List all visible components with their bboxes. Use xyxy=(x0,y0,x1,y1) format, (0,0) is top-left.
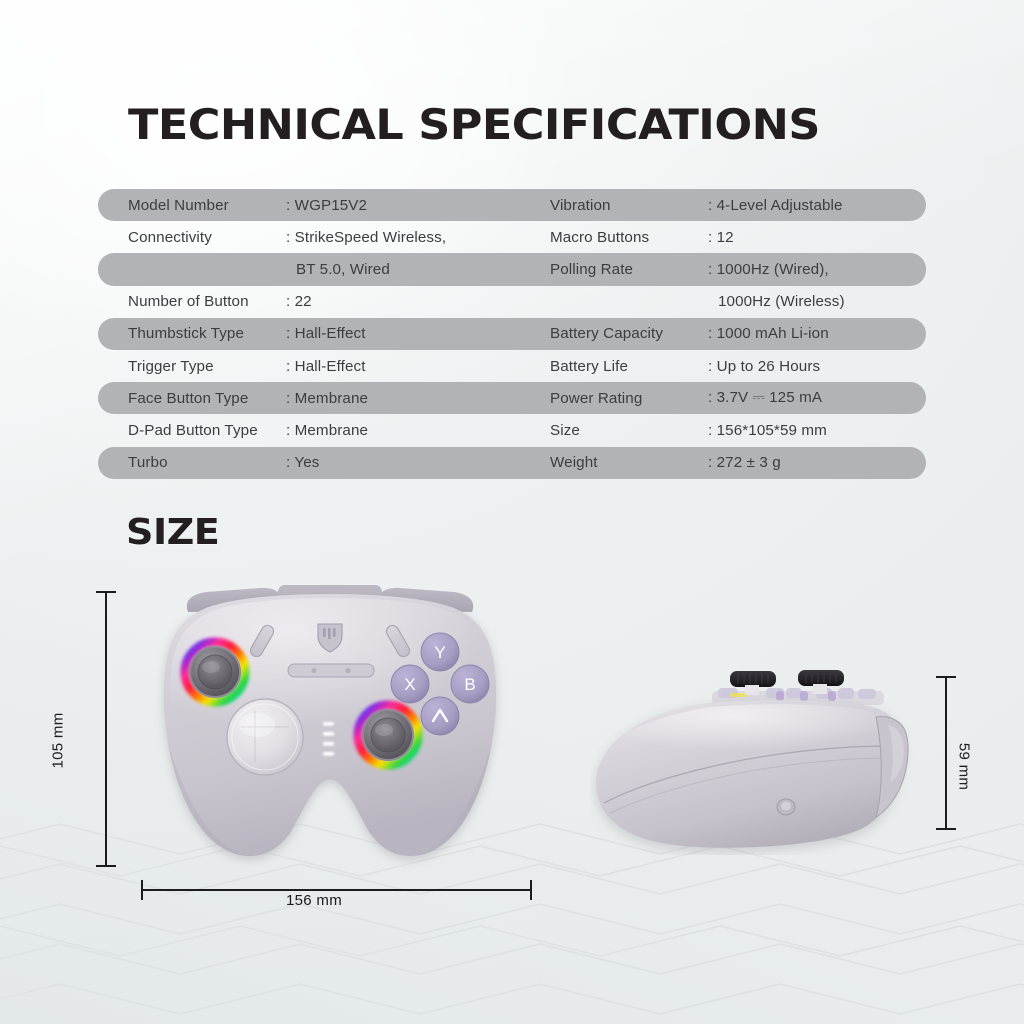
spec-label: Size xyxy=(550,422,708,439)
table-cell-left: Face Button Type : Membrane xyxy=(98,382,550,414)
spec-value: : Hall-Effect xyxy=(286,325,366,342)
page-title: TECHNICAL SPECIFICATIONS xyxy=(128,100,820,149)
table-cell-left: Model Number : WGP15V2 xyxy=(98,189,550,221)
table-row: BT 5.0, Wired Polling Rate : 1000Hz (Wir… xyxy=(98,253,926,285)
button-y: Y xyxy=(421,633,459,671)
spec-value: : 272 ± 3 g xyxy=(708,454,781,471)
spec-label: Model Number xyxy=(128,197,286,214)
spec-value: : Membrane xyxy=(286,390,368,407)
table-row: D-Pad Button Type : Membrane Size : 156*… xyxy=(98,414,926,446)
spec-value: : Up to 26 Hours xyxy=(708,358,820,375)
spec-label: Power Rating xyxy=(550,390,708,407)
spec-label: Turbo xyxy=(128,454,286,471)
dimension-label-width: 156 mm xyxy=(286,892,342,909)
spec-label: Face Button Type xyxy=(128,390,286,407)
table-cell-right: Weight : 272 ± 3 g xyxy=(550,447,926,479)
spec-label: Trigger Type xyxy=(128,358,286,375)
product-spec-sheet: TECHNICAL SPECIFICATIONS SIZE Model Numb… xyxy=(0,0,1024,1024)
spec-value: : StrikeSpeed Wireless, xyxy=(286,229,446,246)
table-row: Thumbstick Type : Hall-Effect Battery Ca… xyxy=(98,318,926,350)
spec-label: Battery Capacity xyxy=(550,325,708,342)
table-row: Model Number : WGP15V2 Vibration : 4-Lev… xyxy=(98,189,926,221)
svg-text:Y: Y xyxy=(434,643,445,662)
spec-value: : 1000 mAh Li-ion xyxy=(708,325,829,342)
table-cell-right: Macro Buttons : 12 xyxy=(550,221,926,253)
spec-value: : Yes xyxy=(286,454,319,471)
size-diagram: 105 mm 156 mm 59 mm xyxy=(0,560,1024,960)
spec-value: BT 5.0, Wired xyxy=(286,261,390,278)
button-x: X xyxy=(391,665,429,703)
table-cell-left: Thumbstick Type : Hall-Effect xyxy=(98,318,550,350)
spec-value: : Membrane xyxy=(286,422,368,439)
table-cell-left: Turbo : Yes xyxy=(98,447,550,479)
svg-text:X: X xyxy=(404,675,415,694)
svg-text:B: B xyxy=(464,675,475,694)
spec-label: Macro Buttons xyxy=(550,229,708,246)
spec-value: : 3.7V ⎓ 125 mA xyxy=(708,389,822,407)
size-section-title: SIZE xyxy=(126,512,219,553)
table-cell-right: Battery Life : Up to 26 Hours xyxy=(550,350,926,382)
table-cell-right: Battery Capacity : 1000 mAh Li-ion xyxy=(550,318,926,350)
table-row: Face Button Type : Membrane Power Rating… xyxy=(98,382,926,414)
table-cell-right: Vibration : 4-Level Adjustable xyxy=(550,189,926,221)
controller-side-view xyxy=(590,655,930,855)
spec-label: Weight xyxy=(550,454,708,471)
table-row: Connectivity : StrikeSpeed Wireless, Mac… xyxy=(98,221,926,253)
spec-value: : 22 xyxy=(286,293,312,310)
spec-label: Connectivity xyxy=(128,229,286,246)
dimension-label-depth: 59 mm xyxy=(956,743,973,790)
side-thumbstick-right xyxy=(798,670,844,694)
spec-value: : WGP15V2 xyxy=(286,197,367,214)
table-cell-right: Size : 156*105*59 mm xyxy=(550,414,926,446)
spec-label: Number of Button xyxy=(128,293,286,310)
table-cell-right: 1000Hz (Wireless) xyxy=(550,286,926,318)
spec-value: : Hall-Effect xyxy=(286,358,366,375)
spec-label: Thumbstick Type xyxy=(128,325,286,342)
spec-label: D-Pad Button Type xyxy=(128,422,286,439)
button-a xyxy=(421,697,459,735)
dimension-label-height: 105 mm xyxy=(50,713,67,769)
table-cell-left: Number of Button : 22 xyxy=(98,286,550,318)
table-cell-left: Trigger Type : Hall-Effect xyxy=(98,350,550,382)
spec-value: : 1000Hz (Wired), xyxy=(708,261,829,278)
table-cell-right: Power Rating : 3.7V ⎓ 125 mA xyxy=(550,382,926,414)
table-cell-right: Polling Rate : 1000Hz (Wired), xyxy=(550,253,926,285)
table-cell-left: D-Pad Button Type : Membrane xyxy=(98,414,550,446)
spec-value: : 12 xyxy=(708,229,734,246)
table-row: Turbo : Yes Weight : 272 ± 3 g xyxy=(98,447,926,479)
spec-value: 1000Hz (Wireless) xyxy=(708,293,845,310)
table-cell-left: BT 5.0, Wired xyxy=(98,253,550,285)
spec-label: Vibration xyxy=(550,197,708,214)
controller-front-view: Y X B xyxy=(110,572,550,872)
spec-label: Polling Rate xyxy=(550,261,708,278)
spec-value: : 156*105*59 mm xyxy=(708,422,827,439)
spec-value: : 4-Level Adjustable xyxy=(708,197,843,214)
specifications-table: Model Number : WGP15V2 Vibration : 4-Lev… xyxy=(98,189,926,479)
right-thumbstick xyxy=(358,705,418,765)
table-row: Trigger Type : Hall-Effect Battery Life … xyxy=(98,350,926,382)
table-cell-left: Connectivity : StrikeSpeed Wireless, xyxy=(98,221,550,253)
button-b: B xyxy=(451,665,489,703)
left-thumbstick xyxy=(185,642,245,702)
table-row: Number of Button : 22 1000Hz (Wireless) xyxy=(98,286,926,318)
dpad xyxy=(227,699,303,775)
spec-label: Battery Life xyxy=(550,358,708,375)
